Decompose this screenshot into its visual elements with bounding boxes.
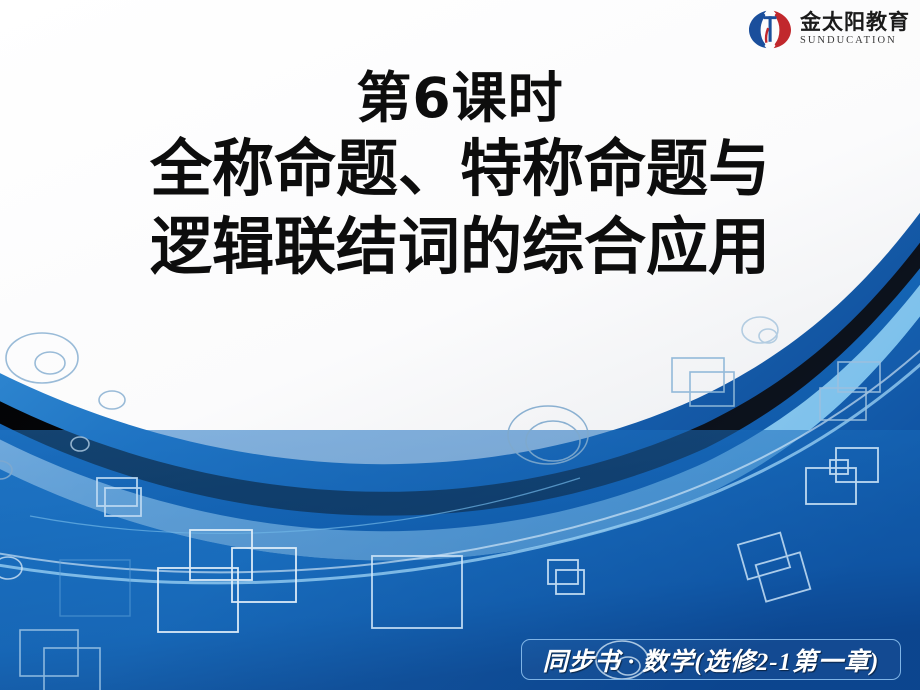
brand-logo: 金太阳教育 SUNDUCATION bbox=[748, 8, 910, 50]
title-slide: 金太阳教育 SUNDUCATION 第6课时 全称命题、特称命题与 逻辑联结词的… bbox=[0, 0, 920, 690]
logo-wordmark: 金太阳教育 SUNDUCATION bbox=[800, 12, 910, 47]
title-line-lesson: 第6课时 bbox=[0, 66, 920, 130]
page-title: 第6课时 全称命题、特称命题与 逻辑联结词的综合应用 bbox=[0, 66, 920, 286]
title-line-topic-2: 逻辑联结词的综合应用 bbox=[0, 208, 920, 286]
sunducation-circular-logo-icon bbox=[748, 8, 792, 50]
title-line-topic-1: 全称命题、特称命题与 bbox=[0, 130, 920, 208]
footer-label: 同步书 · 数学(选修2-1第一章) bbox=[543, 642, 880, 678]
logo-english-name: SUNDUCATION bbox=[800, 36, 897, 47]
footer-badge: 同步书 · 数学(选修2-1第一章) bbox=[521, 639, 901, 680]
logo-chinese-name: 金太阳教育 bbox=[800, 12, 910, 33]
